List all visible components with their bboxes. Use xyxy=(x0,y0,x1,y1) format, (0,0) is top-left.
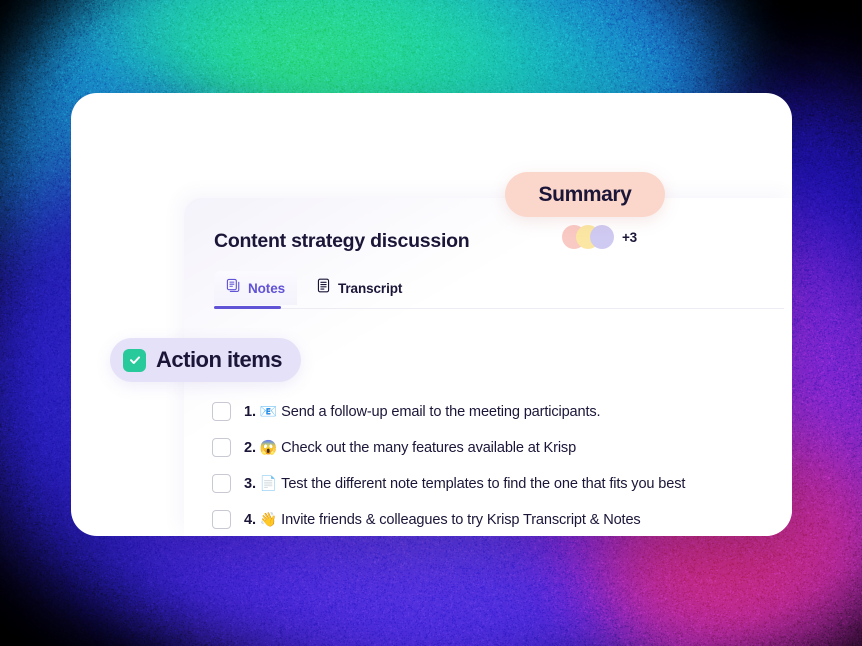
avatar-group: +3 xyxy=(562,225,637,249)
page-emoji: 📄 xyxy=(260,475,277,491)
tab-transcript[interactable]: Transcript xyxy=(304,271,414,305)
item-number: 3. xyxy=(244,476,256,492)
avatar-overflow-count: +3 xyxy=(622,230,637,245)
item-checkbox[interactable] xyxy=(212,474,231,493)
action-items-header: Action items xyxy=(110,338,301,382)
email-emoji: 📧 xyxy=(260,403,277,419)
tab-active-underline xyxy=(214,306,281,309)
transcript-icon xyxy=(316,278,331,298)
notes-icon xyxy=(226,278,241,298)
item-label: Invite friends & colleagues to try Krisp… xyxy=(281,512,640,528)
item-text: 2.😱Check out the many features available… xyxy=(244,439,576,456)
item-label: Check out the many features available at… xyxy=(281,440,576,456)
list-item[interactable]: 4.👋Invite friends & colleagues to try Kr… xyxy=(212,501,852,537)
tab-notes[interactable]: Notes xyxy=(214,271,297,305)
waving-hand-emoji: 👋 xyxy=(260,511,277,527)
item-checkbox[interactable] xyxy=(212,402,231,421)
item-text: 1.📧Send a follow-up email to the meeting… xyxy=(244,403,600,420)
tab-divider xyxy=(214,308,784,309)
action-items-label: Action items xyxy=(156,347,282,373)
item-text: 4.👋Invite friends & colleagues to try Kr… xyxy=(244,511,641,528)
action-items-list: 1.📧Send a follow-up email to the meeting… xyxy=(212,393,852,537)
item-label: Test the different note templates to fin… xyxy=(281,476,685,492)
tab-transcript-label: Transcript xyxy=(338,281,402,296)
checked-checkbox-icon xyxy=(123,349,146,372)
item-number: 2. xyxy=(244,440,256,456)
list-item[interactable]: 2.😱Check out the many features available… xyxy=(212,429,852,465)
tab-notes-label: Notes xyxy=(248,281,285,296)
summary-badge[interactable]: Summary xyxy=(505,172,665,217)
item-number: 4. xyxy=(244,512,256,528)
item-number: 1. xyxy=(244,404,256,420)
item-checkbox[interactable] xyxy=(212,438,231,457)
item-text: 3.📄Test the different note templates to … xyxy=(244,475,685,492)
item-label: Send a follow-up email to the meeting pa… xyxy=(281,404,600,420)
page-title: Content strategy discussion xyxy=(214,232,469,252)
summary-badge-label: Summary xyxy=(539,183,632,207)
avatar xyxy=(590,225,614,249)
list-item[interactable]: 3.📄Test the different note templates to … xyxy=(212,465,852,501)
screaming-face-emoji: 😱 xyxy=(260,439,277,455)
tab-bar: Notes Transcript xyxy=(214,271,784,309)
list-item[interactable]: 1.📧Send a follow-up email to the meeting… xyxy=(212,393,852,429)
item-checkbox[interactable] xyxy=(212,510,231,529)
